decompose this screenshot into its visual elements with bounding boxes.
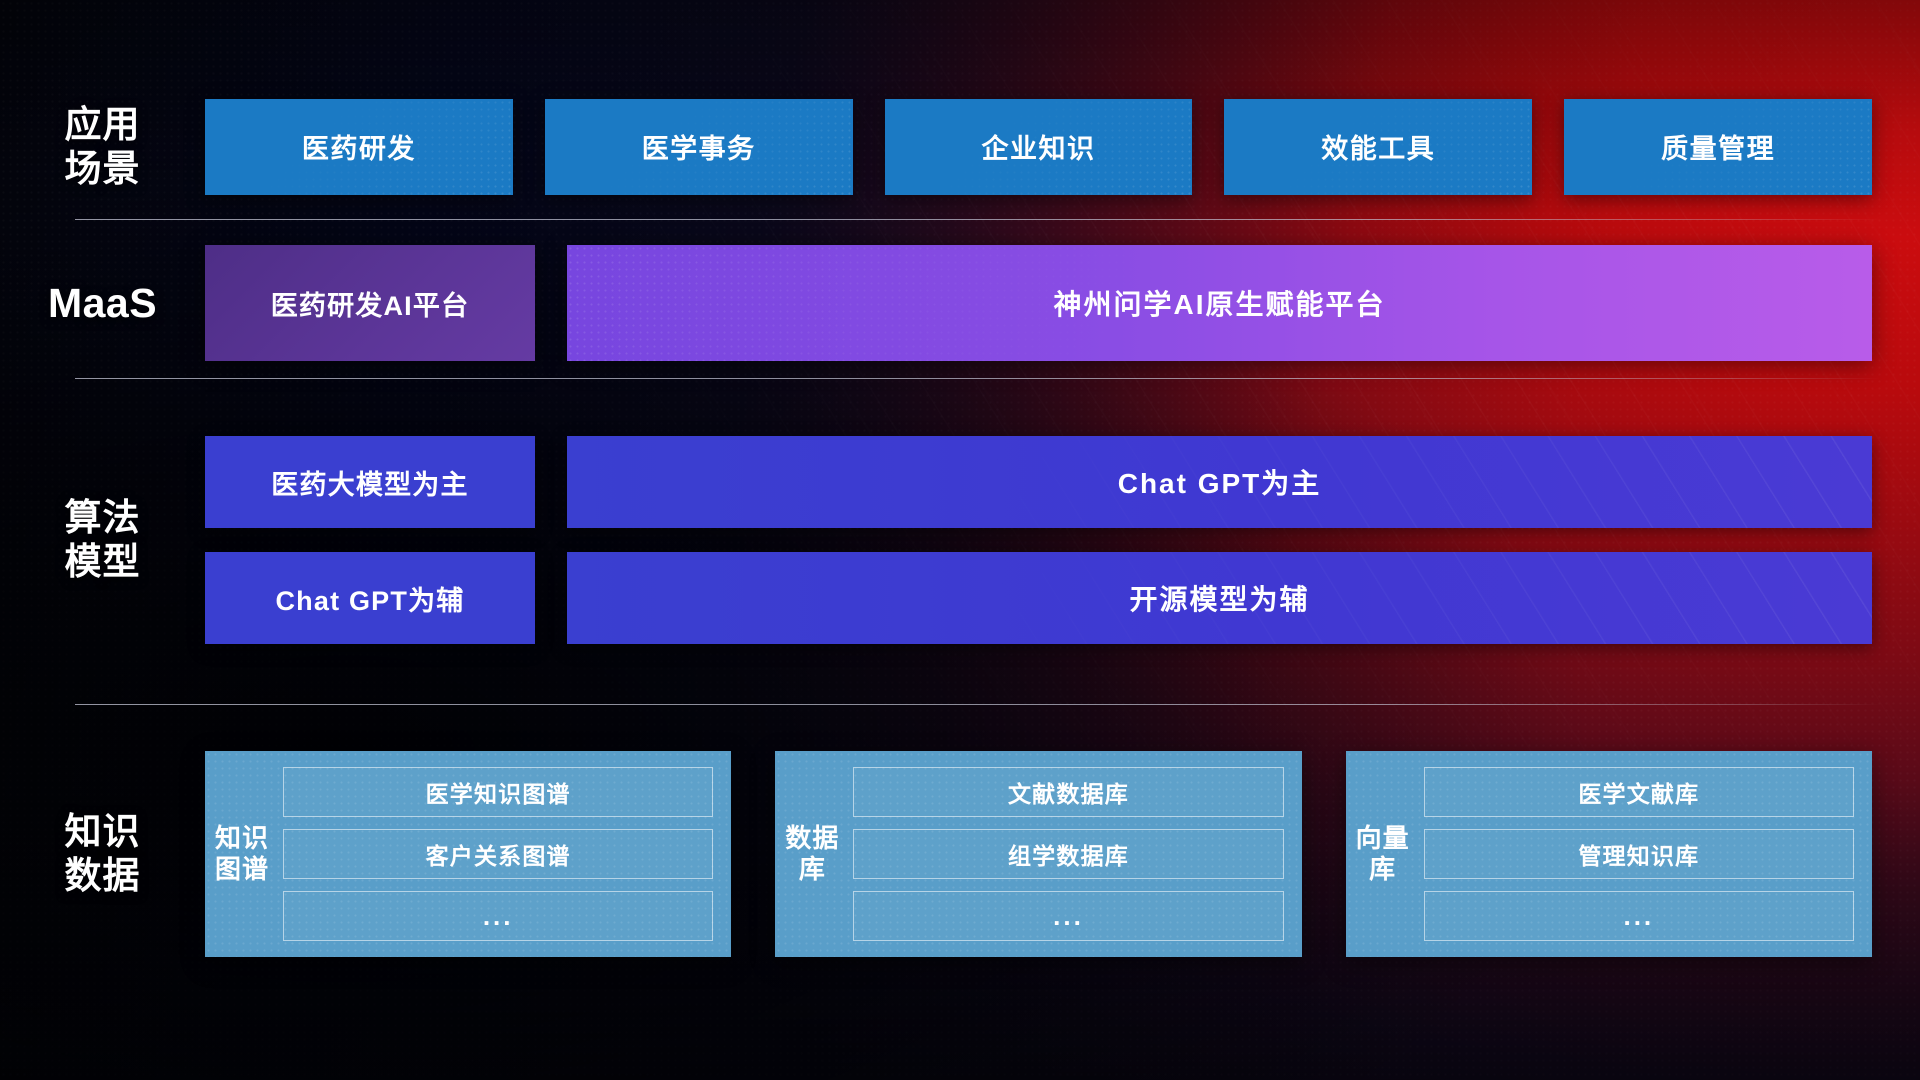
knowledge-item-label: 医学文献库	[1578, 775, 1699, 809]
maas-card-shenzhou-wenxue-platform[interactable]: 神州问学AI原生赋能平台	[567, 245, 1872, 361]
knowledge-item-label: ...	[483, 901, 514, 932]
app-card-label: 企业知识	[981, 127, 1095, 166]
knowledge-item-medical-knowledge-graph[interactable]: 医学知识图谱	[283, 767, 713, 817]
knowledge-item-label: ...	[1623, 901, 1654, 932]
algorithm-card-opensource-secondary[interactable]: 开源模型为辅	[567, 552, 1872, 644]
knowledge-item-literature-database[interactable]: 文献数据库	[853, 767, 1283, 817]
app-card-label: 效能工具	[1321, 127, 1435, 166]
row-knowledge-data: 知识 数据 知识图谱 医学知识图谱 客户关系图谱 ... 数据库	[0, 704, 1920, 1004]
knowledge-panel-database: 数据库 文献数据库 组学数据库 ...	[775, 751, 1301, 957]
knowledge-item-label: ...	[1053, 901, 1084, 932]
knowledge-item-list: 医学文献库 管理知识库 ...	[1424, 767, 1854, 941]
algorithm-card-grid: 医药大模型为主 Chat GPT为主 Chat GPT为辅 开源模型为辅	[205, 436, 1872, 644]
algorithm-card-pharma-llm-primary[interactable]: 医药大模型为主	[205, 436, 535, 528]
algorithm-card-label: 医药大模型为主	[271, 463, 468, 502]
knowledge-item-label: 文献数据库	[1008, 775, 1129, 809]
maas-card-label: 神州问学AI原生赋能平台	[1053, 283, 1385, 323]
row-body-application-scenarios: 医药研发 医学事务 企业知识 效能工具 质量管理	[205, 99, 1920, 195]
knowledge-item-list: 文献数据库 组学数据库 ...	[853, 767, 1283, 941]
app-card-pharma-rd[interactable]: 医药研发	[205, 99, 513, 195]
algorithm-card-label: 开源模型为辅	[1129, 578, 1309, 618]
application-card-list: 医药研发 医学事务 企业知识 效能工具 质量管理	[205, 99, 1872, 195]
row-maas: MaaS 医药研发AI平台 神州问学AI原生赋能平台	[0, 228, 1920, 378]
diagram-rows: 应用 场景 医药研发 医学事务 企业知识 效能工具 质量管理 MaaS 医药研发…	[0, 0, 1920, 1080]
knowledge-item-more[interactable]: ...	[1424, 891, 1854, 941]
algorithm-row-primary: 医药大模型为主 Chat GPT为主	[205, 436, 1872, 528]
algorithm-card-chatgpt-secondary[interactable]: Chat GPT为辅	[205, 552, 535, 644]
divider-after-application-scenarios	[75, 219, 1880, 220]
row-label-maas: MaaS	[0, 279, 205, 327]
knowledge-panel-list: 知识图谱 医学知识图谱 客户关系图谱 ... 数据库 文献数据库 组学数据库 .…	[205, 751, 1872, 957]
algorithm-row-secondary: Chat GPT为辅 开源模型为辅	[205, 552, 1872, 644]
knowledge-panel-title: 向量库	[1354, 767, 1412, 941]
algorithm-card-label: Chat GPT为主	[1118, 462, 1322, 502]
knowledge-panel-knowledge-graph: 知识图谱 医学知识图谱 客户关系图谱 ...	[205, 751, 731, 957]
knowledge-item-customer-relation-graph[interactable]: 客户关系图谱	[283, 829, 713, 879]
row-application-scenarios: 应用 场景 医药研发 医学事务 企业知识 效能工具 质量管理	[0, 74, 1920, 219]
maas-card-list: 医药研发AI平台 神州问学AI原生赋能平台	[205, 245, 1872, 361]
algorithm-card-label: Chat GPT为辅	[275, 579, 464, 618]
row-body-knowledge-data: 知识图谱 医学知识图谱 客户关系图谱 ... 数据库 文献数据库 组学数据库 .…	[205, 751, 1920, 957]
knowledge-item-more[interactable]: ...	[853, 891, 1283, 941]
knowledge-item-more[interactable]: ...	[283, 891, 713, 941]
knowledge-panel-title: 知识图谱	[213, 767, 271, 941]
app-card-label: 医药研发	[302, 127, 416, 166]
app-card-efficiency-tools[interactable]: 效能工具	[1224, 99, 1532, 195]
app-card-label: 质量管理	[1661, 127, 1775, 166]
knowledge-item-medical-literature-library[interactable]: 医学文献库	[1424, 767, 1854, 817]
algorithm-card-chatgpt-primary[interactable]: Chat GPT为主	[567, 436, 1872, 528]
divider-after-maas	[75, 378, 1880, 379]
app-card-enterprise-knowledge[interactable]: 企业知识	[885, 99, 1193, 195]
app-card-medical-affairs[interactable]: 医学事务	[545, 99, 853, 195]
app-card-quality-management[interactable]: 质量管理	[1564, 99, 1872, 195]
knowledge-item-omics-database[interactable]: 组学数据库	[853, 829, 1283, 879]
app-card-label: 医学事务	[642, 127, 756, 166]
row-body-maas: 医药研发AI平台 神州问学AI原生赋能平台	[205, 245, 1920, 361]
knowledge-item-label: 客户关系图谱	[426, 837, 571, 871]
row-label-application-scenarios: 应用 场景	[0, 103, 205, 190]
knowledge-item-label: 医学知识图谱	[426, 775, 571, 809]
knowledge-item-label: 组学数据库	[1008, 837, 1129, 871]
knowledge-panel-vector-database: 向量库 医学文献库 管理知识库 ...	[1346, 751, 1872, 957]
knowledge-panel-title: 数据库	[783, 767, 841, 941]
row-label-knowledge-data: 知识 数据	[0, 810, 205, 897]
architecture-diagram: 应用 场景 医药研发 医学事务 企业知识 效能工具 质量管理 MaaS 医药研发…	[0, 0, 1920, 1080]
row-label-algorithm-model: 算法 模型	[0, 496, 205, 583]
maas-card-label: 医药研发AI平台	[271, 284, 470, 323]
knowledge-item-management-knowledge-base[interactable]: 管理知识库	[1424, 829, 1854, 879]
row-algorithm-model: 算法 模型 医药大模型为主 Chat GPT为主 Chat GPT为辅	[0, 390, 1920, 690]
knowledge-item-list: 医学知识图谱 客户关系图谱 ...	[283, 767, 713, 941]
row-body-algorithm-model: 医药大模型为主 Chat GPT为主 Chat GPT为辅 开源模型为辅	[205, 436, 1920, 644]
knowledge-item-label: 管理知识库	[1578, 837, 1699, 871]
maas-card-pharma-ai-platform[interactable]: 医药研发AI平台	[205, 245, 535, 361]
